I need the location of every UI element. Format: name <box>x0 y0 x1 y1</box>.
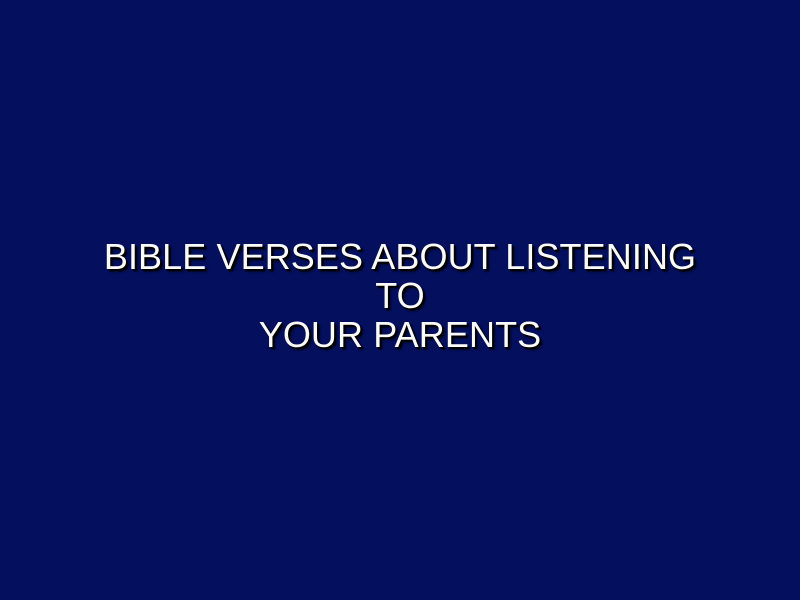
title-block: BIBLE VERSES ABOUT LISTENING TO YOUR PAR… <box>90 237 710 354</box>
page-title: BIBLE VERSES ABOUT LISTENING TO YOUR PAR… <box>90 237 710 354</box>
title-card-canvas: BIBLE VERSES ABOUT LISTENING TO YOUR PAR… <box>0 0 800 600</box>
